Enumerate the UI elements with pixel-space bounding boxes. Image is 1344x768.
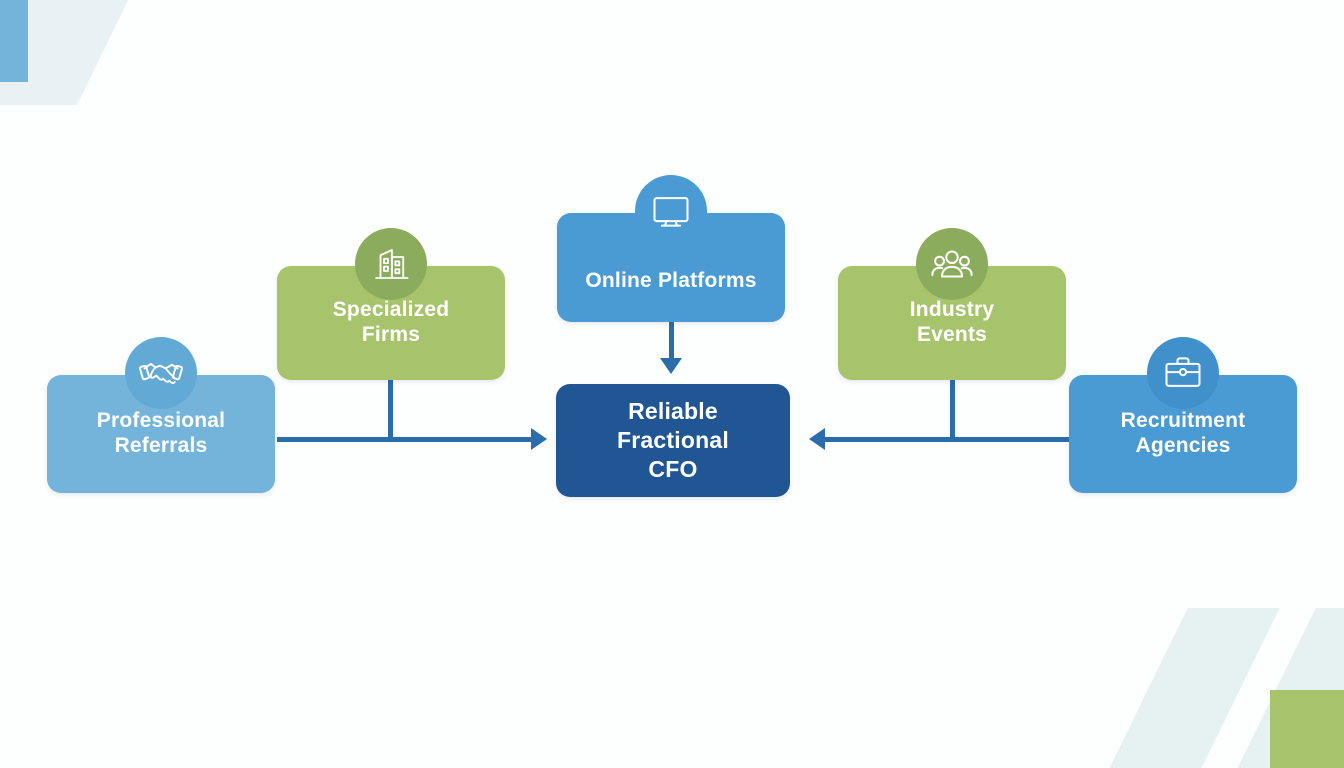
connector-specialized-firms-stub bbox=[388, 380, 393, 440]
monitor-icon bbox=[635, 175, 707, 247]
node-recruitment-agencies-label: Recruitment Agencies bbox=[1111, 409, 1256, 459]
bottom-right-green-square bbox=[1270, 690, 1344, 768]
bottom-right-stripe-two bbox=[1208, 608, 1344, 768]
node-label-line-2: Firms bbox=[333, 323, 450, 348]
arrow-head-down bbox=[660, 358, 682, 374]
node-label-line-2: Agencies bbox=[1121, 434, 1246, 459]
connector-right-horizontal bbox=[825, 437, 1071, 442]
briefcase-icon bbox=[1147, 337, 1219, 409]
diagram-canvas: Professional Referrals Specialized Firms bbox=[0, 0, 1344, 768]
connector-left-horizontal bbox=[277, 437, 535, 442]
node-label-line-2: Events bbox=[910, 323, 994, 348]
node-label-line-3: CFO bbox=[617, 455, 729, 484]
top-left-wash-shape bbox=[0, 0, 143, 105]
node-label-line-1: Industry bbox=[910, 298, 994, 323]
node-label-line-1: Professional bbox=[97, 409, 225, 434]
node-professional-referrals-label: Professional Referrals bbox=[87, 409, 235, 459]
node-online-platforms-label: Online Platforms bbox=[575, 269, 766, 294]
arrow-head-left bbox=[809, 428, 825, 450]
node-label-line-2: Referrals bbox=[97, 434, 225, 459]
connector-online-platforms-vertical bbox=[669, 322, 674, 362]
arrow-head-right bbox=[531, 428, 547, 450]
node-label-line-1: Specialized bbox=[333, 298, 450, 323]
connector-industry-events-stub bbox=[950, 380, 955, 440]
top-left-accent-bar bbox=[0, 0, 28, 82]
bottom-right-stripe-one bbox=[1080, 608, 1279, 768]
node-label-line-1: Reliable bbox=[617, 397, 729, 426]
node-center-label: Reliable Fractional CFO bbox=[607, 397, 739, 483]
node-label-line-2: Fractional bbox=[617, 426, 729, 455]
people-group-icon bbox=[916, 228, 988, 300]
node-reliable-fractional-cfo[interactable]: Reliable Fractional CFO bbox=[556, 384, 790, 497]
node-industry-events-label: Industry Events bbox=[900, 298, 1004, 348]
handshake-icon bbox=[125, 337, 197, 409]
node-label-line-1: Online Platforms bbox=[585, 269, 756, 294]
office-building-icon bbox=[355, 228, 427, 300]
node-specialized-firms-label: Specialized Firms bbox=[323, 298, 460, 348]
node-label-line-1: Recruitment bbox=[1121, 409, 1246, 434]
